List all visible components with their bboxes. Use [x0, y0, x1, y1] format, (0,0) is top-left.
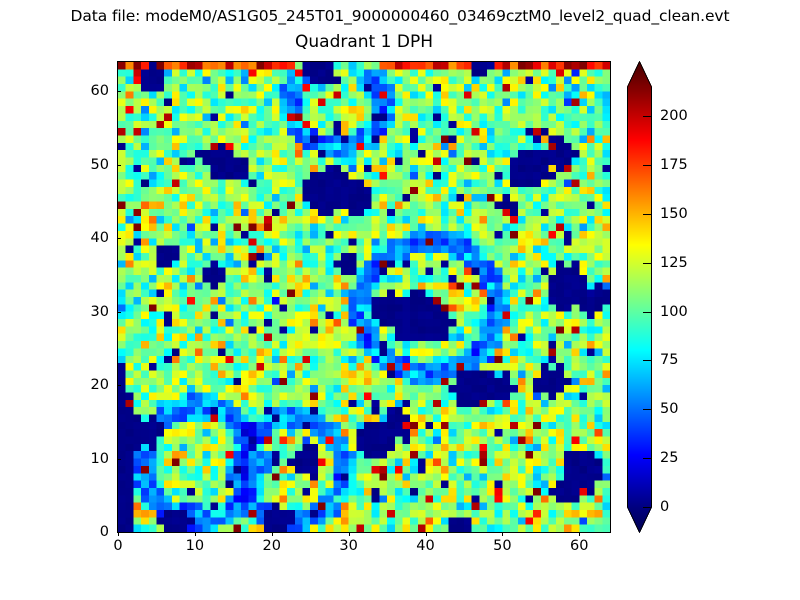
y-tick-mark	[117, 385, 121, 386]
colorbar-tick-label: 0	[660, 499, 669, 515]
colorbar-tick-label: 175	[660, 157, 688, 173]
y-tick-label: 10	[65, 451, 109, 467]
x-tick-label: 60	[570, 538, 588, 554]
y-tick-mark	[117, 532, 121, 533]
colorbar-tick-label: 150	[660, 206, 688, 222]
y-tick-label: 60	[65, 83, 109, 99]
colorbar-tick-mark	[643, 165, 651, 166]
x-tick-mark	[426, 532, 427, 536]
colorbar-tick-mark	[643, 409, 651, 410]
figure-suptitle: Data file: modeM0/AS1G05_245T01_90000004…	[0, 7, 800, 25]
colorbar-tick-mark	[643, 458, 651, 459]
colorbar-tick-mark	[643, 263, 651, 264]
heatmap-image[interactable]	[118, 62, 610, 532]
y-tick-mark	[117, 165, 121, 166]
x-tick-mark	[272, 532, 273, 536]
colorbar-tick-label: 100	[660, 304, 688, 320]
y-tick-label: 30	[65, 304, 109, 320]
colorbar-tick-label: 200	[660, 108, 688, 124]
x-tick-mark	[195, 532, 196, 536]
colorbar-tick-mark	[643, 360, 651, 361]
colorbar-tick-label: 75	[660, 352, 678, 368]
y-tick-label: 0	[65, 524, 109, 540]
colorbar-tick-mark	[643, 214, 651, 215]
colorbar-gradient[interactable]	[627, 61, 652, 533]
y-tick-label: 40	[65, 230, 109, 246]
colorbar-tick-label: 125	[660, 255, 688, 271]
y-tick-label: 50	[65, 157, 109, 173]
y-tick-mark	[117, 238, 121, 239]
page-title: Quadrant 1 DPH	[117, 32, 611, 52]
y-tick-mark	[117, 91, 121, 92]
x-tick-label: 40	[416, 538, 434, 554]
x-tick-mark	[502, 532, 503, 536]
x-tick-label: 10	[186, 538, 204, 554]
colorbar-tick-mark	[643, 116, 651, 117]
x-tick-mark	[349, 532, 350, 536]
colorbar-tick-mark	[643, 507, 651, 508]
x-tick-label: 50	[493, 538, 511, 554]
y-tick-label: 20	[65, 377, 109, 393]
colorbar-tick-label: 50	[660, 401, 678, 417]
heatmap-axes[interactable]	[117, 61, 611, 533]
colorbar-tick-mark	[643, 312, 651, 313]
figure-canvas: Data file: modeM0/AS1G05_245T01_90000004…	[0, 0, 800, 600]
colorbar[interactable]	[627, 61, 652, 533]
colorbar-tick-label: 25	[660, 450, 678, 466]
y-tick-mark	[117, 312, 121, 313]
y-tick-mark	[117, 459, 121, 460]
x-tick-mark	[579, 532, 580, 536]
x-tick-label: 30	[339, 538, 357, 554]
x-tick-label: 20	[263, 538, 281, 554]
x-tick-label: 0	[113, 538, 122, 554]
